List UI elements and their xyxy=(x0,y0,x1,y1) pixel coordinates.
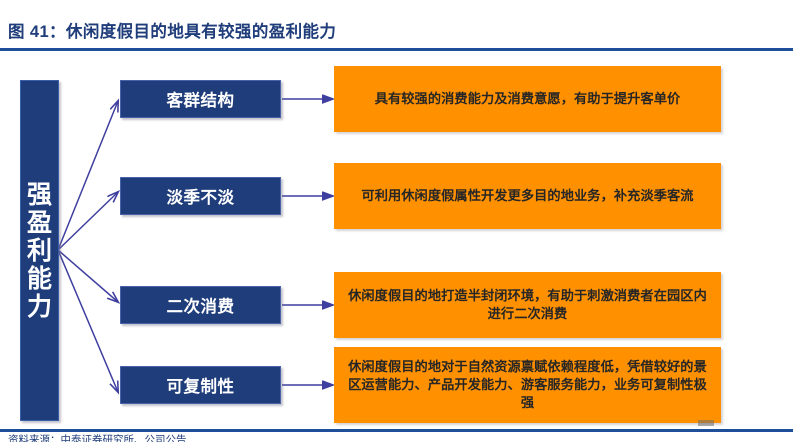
fan-arrow-2 xyxy=(58,192,118,250)
description-node-2: 可利用休闲度假属性开发更多目的地业务，补充淡季客流 xyxy=(334,163,721,229)
slide-figure: 图 41：休闲度假目的地具有较强的盈利能力 强盈利能力 xyxy=(0,0,793,442)
header-divider xyxy=(0,48,793,51)
category-node-4[interactable]: 可复制性 xyxy=(120,366,281,404)
page-title: 图 41：休闲度假目的地具有较强的盈利能力 xyxy=(8,18,336,42)
root-node: 强盈利能力 xyxy=(20,80,59,421)
category-node-3[interactable]: 二次消费 xyxy=(120,286,281,324)
category-node-2[interactable]: 淡季不淡 xyxy=(120,177,281,215)
category-node-3-label: 二次消费 xyxy=(167,293,235,317)
fan-arrow-1 xyxy=(58,101,118,250)
root-node-label: 强盈利能力 xyxy=(26,181,54,321)
link-arrows xyxy=(282,99,333,385)
fan-arrows xyxy=(58,101,118,392)
fan-arrow-3 xyxy=(58,250,118,302)
description-node-1: 具有较强的消费能力及消费意愿，有助于提升客单价 xyxy=(334,66,721,132)
description-node-4-label: 休闲度假目的地对于自然资源禀赋依赖程度低，凭借较好的景区运营能力、产品开发能力、… xyxy=(344,358,711,413)
description-node-1-label: 具有较强的消费能力及消费意愿，有助于提升客单价 xyxy=(375,90,681,108)
description-node-3: 休闲度假目的地打造半封闭环境，有助于刺激消费者在园区内进行二次消费 xyxy=(334,272,721,338)
description-node-3-label: 休闲度假目的地打造半封闭环境，有助于刺激消费者在园区内进行二次消费 xyxy=(344,287,711,323)
category-node-4-label: 可复制性 xyxy=(167,373,235,397)
source-note: 资料来源：中泰证券研究所、公司公告 xyxy=(8,432,187,442)
category-node-1-label: 客群结构 xyxy=(167,87,235,111)
category-node-1[interactable]: 客群结构 xyxy=(120,80,281,118)
description-node-2-label: 可利用休闲度假属性开发更多目的地业务，补充淡季客流 xyxy=(361,187,693,205)
category-node-2-label: 淡季不淡 xyxy=(167,184,235,208)
description-node-4: 休闲度假目的地对于自然资源禀赋依赖程度低，凭借较好的景区运营能力、产品开发能力、… xyxy=(334,347,721,423)
fan-arrow-4 xyxy=(58,250,118,392)
page-marker xyxy=(698,420,714,426)
